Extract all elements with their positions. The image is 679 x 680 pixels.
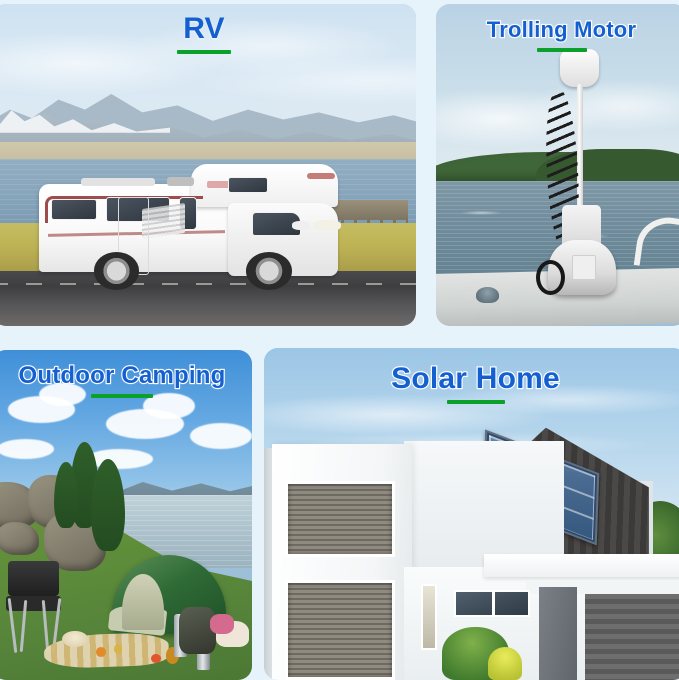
chair-seat <box>6 596 61 611</box>
rv-tail-light <box>307 173 334 179</box>
rv-vent-louvers <box>142 203 185 239</box>
entrance-door <box>539 587 577 680</box>
rv-headlight <box>313 220 340 231</box>
cloud <box>190 423 252 449</box>
rv-air-conditioner <box>167 177 194 186</box>
panel-rv[interactable]: RV <box>0 4 416 326</box>
rv-side-mirror <box>292 221 310 230</box>
rv-window <box>228 177 268 193</box>
chair-backrest <box>8 561 58 596</box>
rv-scene-image <box>0 4 416 326</box>
cloud <box>143 393 195 419</box>
parapet-wall <box>484 554 679 577</box>
panel-solar-home[interactable]: Solar Home <box>264 348 679 680</box>
backpack <box>179 607 215 653</box>
solar-home-scene-image <box>264 348 679 680</box>
trolling-motor-scene-image <box>436 4 679 326</box>
deck-fitting <box>476 287 499 303</box>
strip-window <box>454 590 530 617</box>
motorhome <box>39 162 344 288</box>
rv-roof-box <box>81 178 154 186</box>
folding-chair <box>5 561 62 653</box>
sun-hat <box>62 631 88 648</box>
panel-outdoor-camping[interactable]: Outdoor Camping <box>0 350 252 680</box>
cloud <box>39 383 86 406</box>
flowering-plant <box>488 647 522 680</box>
narrow-window <box>421 584 438 650</box>
motor-head <box>560 49 599 87</box>
pink-cloth <box>210 614 233 634</box>
upper-window <box>285 481 395 557</box>
motor-clamp <box>572 255 596 280</box>
outdoor-camping-scene-image <box>0 350 252 680</box>
lower-window <box>285 580 395 680</box>
cloud <box>0 439 54 459</box>
rv-rear-wheel <box>94 252 140 290</box>
panel-trolling-motor[interactable]: Trolling Motor <box>436 4 679 326</box>
garage-door <box>585 594 679 680</box>
application-scenarios-collage: RV Trolling M <box>0 0 679 679</box>
tree <box>54 462 77 528</box>
rv-window <box>51 199 97 219</box>
rv-front-wheel <box>246 252 292 290</box>
picnic-item <box>114 644 122 654</box>
trolling-motor-unit <box>541 49 626 300</box>
